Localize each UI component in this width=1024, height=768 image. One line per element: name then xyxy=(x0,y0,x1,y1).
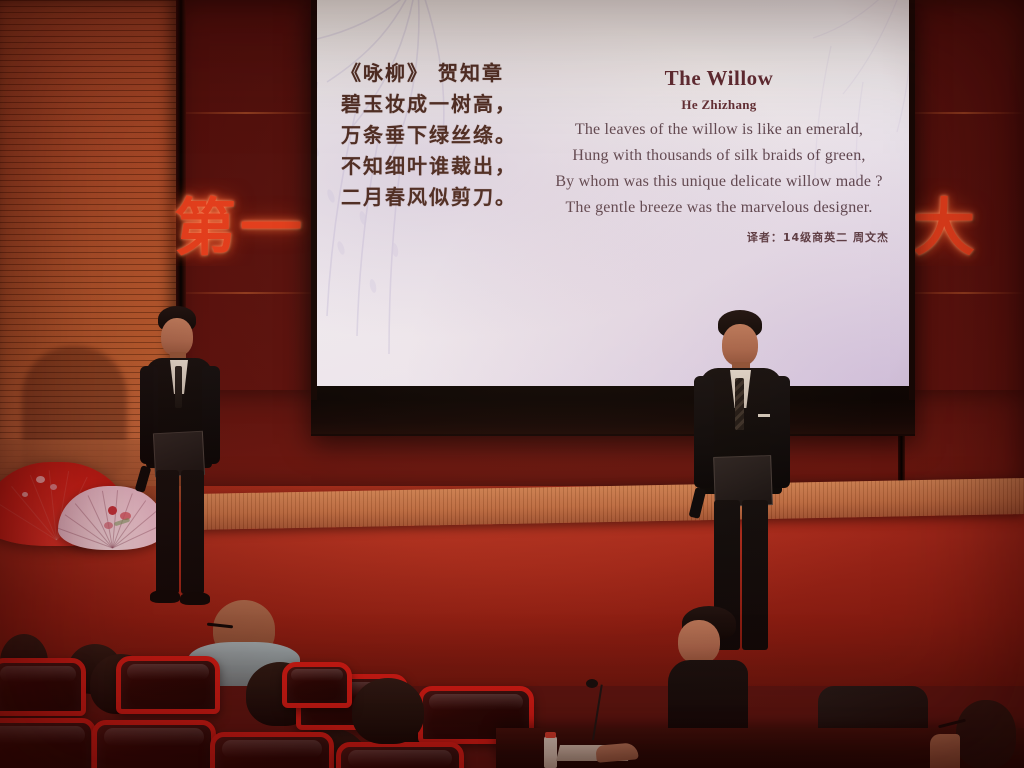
presenter-right-arm-left xyxy=(694,376,714,488)
presenter-right-microphone xyxy=(689,487,707,519)
slide-line-3: By whom was this unique delicate willow … xyxy=(535,173,903,191)
presenter-right-tie xyxy=(735,378,744,430)
presenter-left-leg-right xyxy=(181,470,204,594)
presenter-right-head xyxy=(722,324,758,366)
wall-seam-d xyxy=(905,292,1024,294)
judge-microphone-icon xyxy=(586,679,598,688)
seat-row1-b[interactable] xyxy=(116,656,220,714)
banner-left-text: 第一 xyxy=(160,178,332,266)
judge-hand xyxy=(595,742,638,763)
slide-chinese-poem: 《咏柳》 贺知章 碧玉妆成一树高， 万条垂下绿丝绦。 不知细叶谁裁出， 二月春风… xyxy=(341,58,556,213)
water-bottle xyxy=(544,736,557,768)
projection-screen-frame: 《咏柳》 贺知章 碧玉妆成一树高， 万条垂下绿丝绦。 不知细叶谁裁出， 二月春风… xyxy=(311,0,915,436)
seat-row2-c[interactable] xyxy=(210,732,334,768)
banner-right-text: 大 xyxy=(905,178,1024,266)
audience-head-8 xyxy=(352,678,424,744)
slide-translator-credit: 译者：14级商英二 周文杰 xyxy=(535,229,903,245)
projection-screen-surface: 《咏柳》 贺知章 碧玉妆成一树高， 万条垂下绿丝绦。 不知细叶谁裁出， 二月春风… xyxy=(317,0,909,386)
poem-line-2: 万条垂下绿丝绦。 xyxy=(341,120,556,151)
seat-row1-a[interactable] xyxy=(0,658,86,716)
presenter-left-tie xyxy=(175,366,182,408)
seat-row2-b[interactable] xyxy=(92,720,216,768)
slide-line-4: The gentle breeze was the marvelous desi… xyxy=(535,199,903,217)
water-bottle-cap xyxy=(545,732,556,738)
parasol-flower-a xyxy=(36,476,45,483)
seat-row1-e[interactable] xyxy=(282,662,352,708)
presenter-left-head xyxy=(161,318,193,356)
poem-line-4: 二月春风似剪刀。 xyxy=(341,182,556,213)
parasol-small-flower-b xyxy=(104,522,113,529)
projection-screen-hood xyxy=(311,400,915,434)
slide-author: He Zhizhang xyxy=(535,97,903,113)
poem-line-3: 不知细叶谁裁出， xyxy=(341,151,556,182)
slide-line-1: The leaves of the willow is like an emer… xyxy=(535,121,903,139)
parasol-small-hub xyxy=(108,506,117,515)
seat-row2-d[interactable] xyxy=(336,742,464,768)
parasol-flower-b xyxy=(50,484,57,490)
seat-row2-a[interactable] xyxy=(0,718,96,768)
presenter-left-leg-left xyxy=(156,470,179,594)
poem-line-1: 碧玉妆成一树高， xyxy=(341,89,556,120)
wall-seam-a xyxy=(176,112,316,114)
presenter-left xyxy=(132,306,228,612)
slide-title: The Willow xyxy=(535,66,903,91)
presenter-left-arm-right xyxy=(202,366,220,464)
auditorium-scene: 第一 大 xyxy=(0,0,1024,768)
presenter-right-arm-right xyxy=(770,376,790,488)
parasol-flower-c xyxy=(22,492,28,497)
wall-seam-c xyxy=(905,112,1024,114)
presenter-left-microphone xyxy=(135,465,152,493)
audience-head-right xyxy=(956,700,1016,768)
audience-arm-right xyxy=(930,734,960,768)
judge-head xyxy=(678,620,720,664)
slide-line-2: Hung with thousands of silk braids of gr… xyxy=(535,147,903,165)
slide-english-block: The Willow He Zhizhang The leaves of the… xyxy=(535,66,903,245)
wall-seam-b xyxy=(176,292,316,294)
poem-heading: 《咏柳》 贺知章 xyxy=(341,58,556,89)
